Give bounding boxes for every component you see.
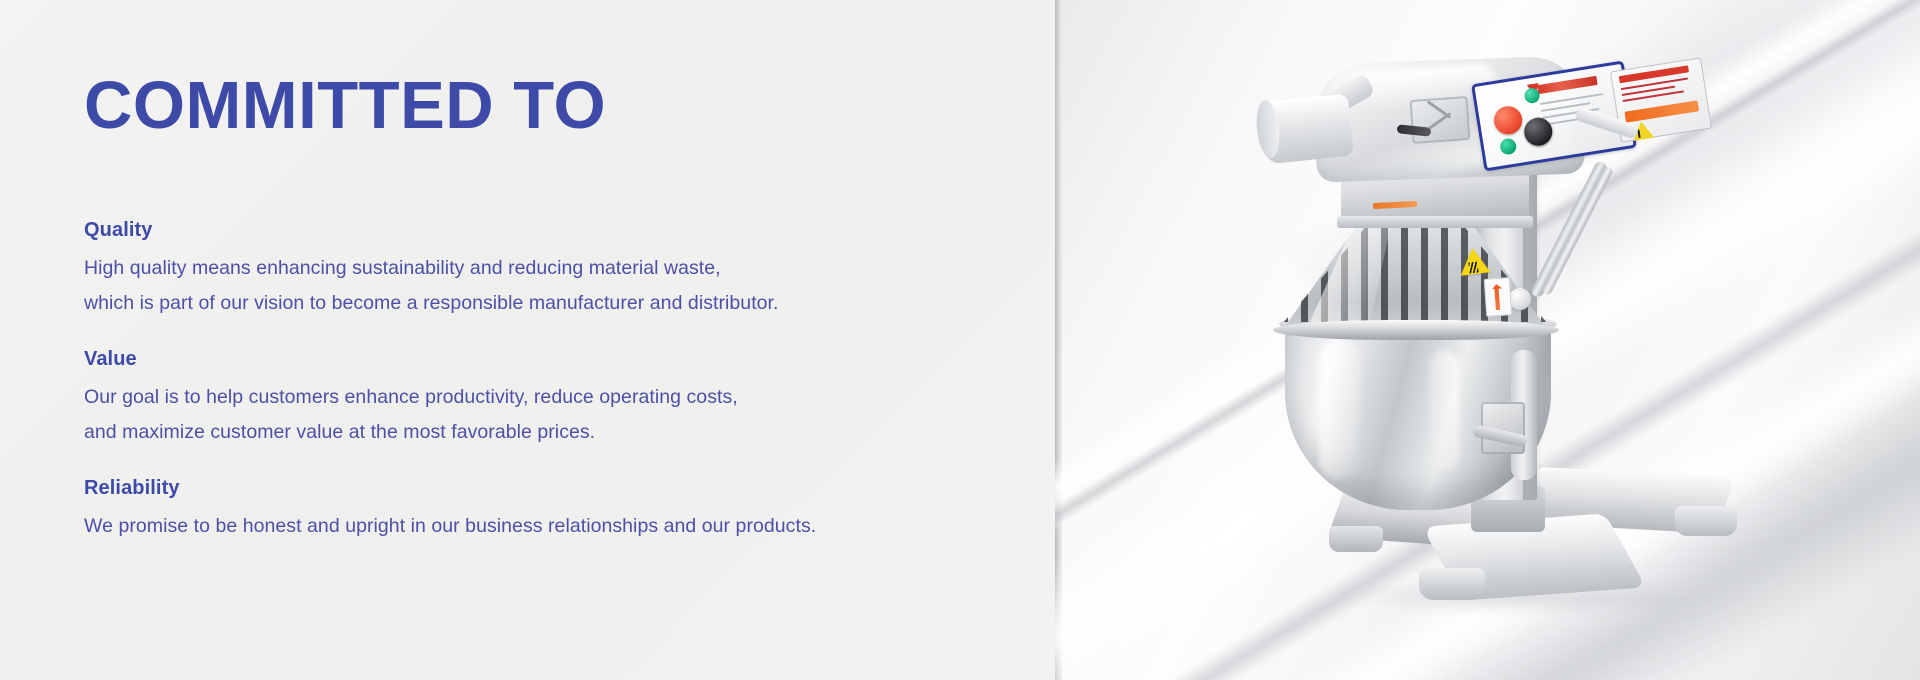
section-line: and maximize customer value at the most … [84,415,984,450]
bowl-lift-lever[interactable] [1530,160,1609,299]
section-body-value: Our goal is to help customers enhance pr… [84,380,984,450]
section-line: We promise to be honest and upright in o… [84,509,984,544]
section-title-quality: Quality [84,218,984,242]
head-band [1337,216,1533,228]
bowl-lift-lever-rod[interactable] [1541,165,1613,296]
product-image-panel [1055,0,1920,680]
page-title: COMMITTED TO [84,72,606,139]
lever-pivot [1509,288,1531,310]
committed-to-banner: COMMITTED TO Quality High quality means … [0,0,1920,680]
section-line: which is part of our vision to become a … [84,286,984,321]
base-foot-left [1329,526,1383,552]
section-line: High quality means enhancing sustainabil… [84,251,984,286]
value-section-quality: Quality High quality means enhancing sus… [84,218,984,321]
base-foot-right [1675,506,1737,536]
section-body-quality: High quality means enhancing sustainabil… [84,251,984,321]
section-title-reliability: Reliability [84,476,984,500]
panel-divider [1055,0,1062,680]
value-section-reliability: Reliability We promise to be honest and … [84,476,984,544]
text-panel: COMMITTED TO Quality High quality means … [0,0,1055,680]
base-foot-front [1419,568,1485,600]
bowl-highlight [1429,350,1459,470]
values-list: Quality High quality means enhancing sus… [84,218,984,544]
section-line: Our goal is to help customers enhance pr… [84,380,984,415]
bowl-guard-rim [1273,320,1559,340]
hazard-triangle-glyph [1468,261,1478,273]
planetary-mixer-illustration [1223,20,1703,660]
bowl-highlight [1319,340,1361,480]
section-title-value: Value [84,347,984,371]
section-body-reliability: We promise to be honest and upright in o… [84,509,984,544]
value-section-value: Value Our goal is to help customers enha… [84,347,984,450]
